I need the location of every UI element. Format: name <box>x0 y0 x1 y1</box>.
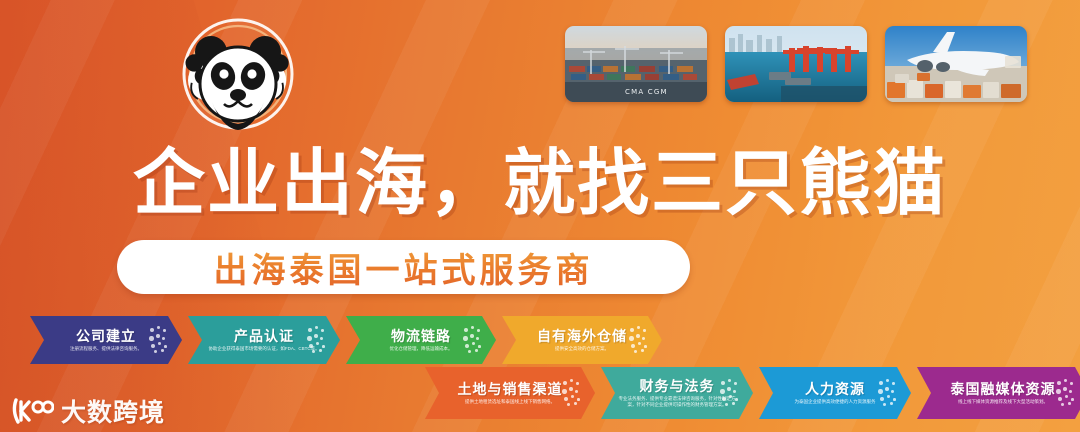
service-label: 人力资源 <box>805 381 865 397</box>
service-row-1: 公司建立 注册流程服务、提供法律咨询服务。 产品认证 协助企业获得泰国市场需要的… <box>30 316 668 364</box>
service-desc: 为泰国企业提供高效便捷的人力资源服务 <box>795 399 876 405</box>
service-item-logistics[interactable]: 物流链路 优化仓储管理，降低运输成本。 <box>346 316 496 364</box>
service-desc: 提供土地租赁选址和泰国线上线下销售网络。 <box>465 399 555 405</box>
service-item-human-resources[interactable]: 人力资源 为泰国企业提供高效便捷的人力资源服务 <box>759 367 911 419</box>
photo-cargo-plane <box>885 26 1027 102</box>
service-label: 物流链路 <box>391 328 451 344</box>
dots-decoration <box>561 378 581 408</box>
service-desc: 专业法务服务、提供专业靠谱法律咨询服务，针对性制定方案，针对不同企业提供可操作性… <box>618 396 737 407</box>
dots-decoration <box>148 325 168 355</box>
service-item-company-setup[interactable]: 公司建立 注册流程服务、提供法律咨询服务。 <box>30 316 182 364</box>
service-desc: 协助企业获得泰国市场需要的认证，如FDA、CBTC等。 <box>208 346 319 352</box>
service-item-overseas-warehouse[interactable]: 自有海外仓储 提供安全高效的仓储方案。 <box>502 316 662 364</box>
service-item-thai-media-resources[interactable]: 泰国融媒体资源 线上线下媒体资源推荐及线下大型活动策划。 <box>917 367 1080 419</box>
promo-banner: CMA CGM <box>0 0 1080 432</box>
service-label: 公司建立 <box>76 328 136 344</box>
photo-harbor-cranes <box>725 26 867 102</box>
watermark-text: 大数跨境 <box>61 393 165 429</box>
dots-decoration <box>628 325 648 355</box>
dots-decoration <box>462 325 482 355</box>
service-row-2: 土地与销售渠道 提供土地租赁选址和泰国线上线下销售网络。 财务与法务 专业法务服… <box>425 367 1080 419</box>
subtitle-text: 出海泰国一站式服务商 <box>214 243 594 292</box>
service-label: 自有海外仓储 <box>537 328 627 344</box>
photo-strip: CMA CGM <box>565 26 1027 102</box>
service-label: 财务与法务 <box>640 378 715 394</box>
service-label: 产品认证 <box>234 328 294 344</box>
service-item-product-certification[interactable]: 产品认证 协助企业获得泰国市场需要的认证，如FDA、CBTC等。 <box>188 316 340 364</box>
service-label: 泰国融媒体资源 <box>951 381 1056 397</box>
dots-decoration <box>1055 378 1075 408</box>
dashu-logo-icon <box>10 396 54 426</box>
svg-text:CMA CGM: CMA CGM <box>625 88 668 96</box>
service-desc: 优化仓储管理，降低运输成本。 <box>390 346 453 352</box>
watermark: 大数跨境 <box>10 393 165 429</box>
service-desc: 线上线下媒体资源推荐及线下大型活动策划。 <box>958 399 1048 405</box>
photo-container-port: CMA CGM <box>565 26 707 102</box>
service-item-finance-legal[interactable]: 财务与法务 专业法务服务、提供专业靠谱法律咨询服务，针对性制定方案，针对不同企业… <box>601 367 753 419</box>
dots-decoration <box>877 378 897 408</box>
subtitle-pill: 出海泰国一站式服务商 <box>117 240 690 294</box>
page-title: 企业出海，就找三只熊猫 <box>0 145 1080 223</box>
service-desc: 提供安全高效的仓储方案。 <box>555 346 609 352</box>
service-label: 土地与销售渠道 <box>458 381 563 397</box>
service-item-land-sales-channel[interactable]: 土地与销售渠道 提供土地租赁选址和泰国线上线下销售网络。 <box>425 367 595 419</box>
three-panda-logo <box>152 14 324 132</box>
service-desc: 注册流程服务、提供法律咨询服务。 <box>70 346 142 352</box>
